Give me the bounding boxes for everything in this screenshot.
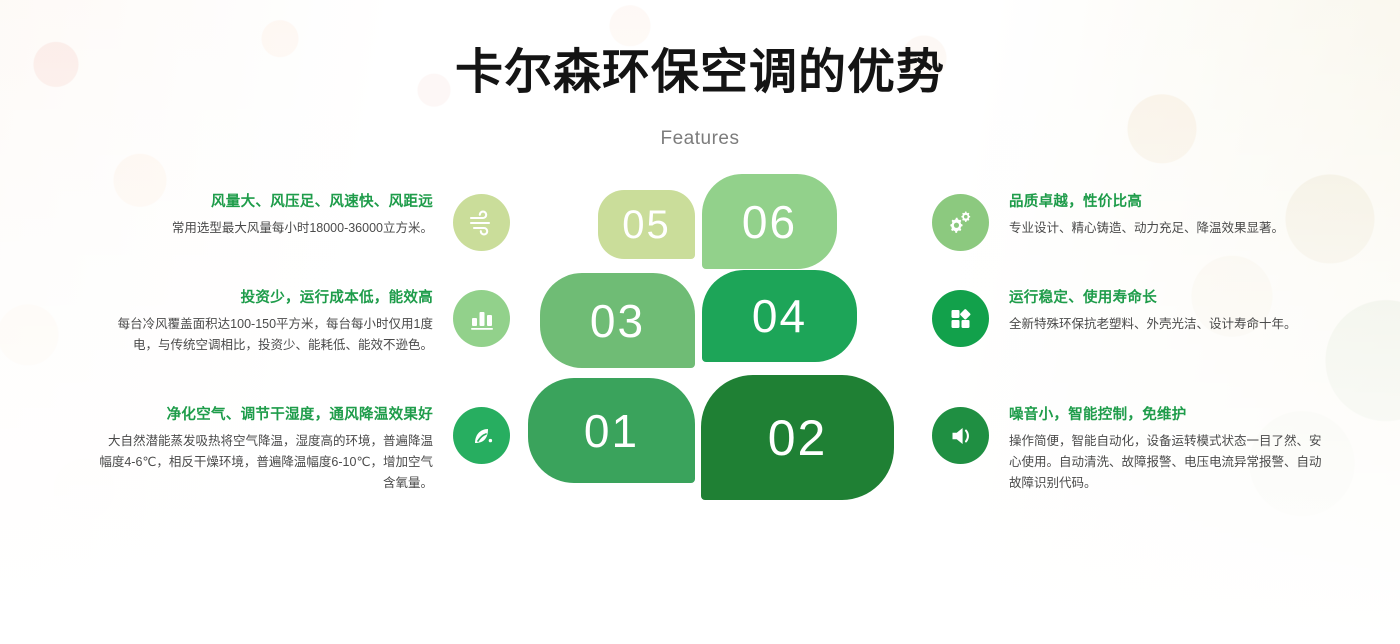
feature-heading-02: 噪音小，智能控制，免维护 bbox=[1009, 405, 1187, 425]
leaf-number-04: 04 bbox=[752, 293, 807, 339]
leaf-badge-04[interactable]: 04 bbox=[702, 270, 857, 362]
feature-text-01: 净化空气、调节干湿度，通风降温效果好 大自然潜能蒸发吸热将空气降温，湿度高的环境… bbox=[96, 405, 433, 494]
leaf-badge-01[interactable]: 01 bbox=[528, 378, 695, 483]
leaf-number-03: 03 bbox=[590, 298, 645, 344]
page-title: 卡尔森环保空调的优势 bbox=[0, 44, 1400, 102]
speaker-volume-icon bbox=[932, 407, 989, 464]
feature-heading-03: 投资少，运行成本低，能效高 bbox=[241, 288, 433, 308]
leaf-badge-02[interactable]: 02 bbox=[701, 375, 894, 500]
leaf-badge-03[interactable]: 03 bbox=[540, 273, 695, 368]
page-subtitle: Features bbox=[0, 128, 1400, 150]
leaf-number-02: 02 bbox=[768, 413, 828, 463]
feature-body-01: 大自然潜能蒸发吸热将空气降温，湿度高的环境，普遍降温幅度4-6℃，相反干燥环境，… bbox=[96, 431, 433, 494]
tree-stem bbox=[718, 190, 724, 530]
leaf-number-06: 06 bbox=[742, 199, 797, 245]
bar-chart-icon bbox=[453, 290, 510, 347]
feature-item-06[interactable]: 品质卓越，性价比高 专业设计、精心铸造、动力充足、降温效果显著。 bbox=[932, 192, 1332, 251]
feature-body-03: 每台冷风覆盖面积达100-150平方米，每台每小时仅用1度电，与传统空调相比，投… bbox=[99, 314, 433, 356]
feature-item-02[interactable]: 噪音小，智能控制，免维护 操作简便，智能自动化，设备运转模式状态一目了然、安心使… bbox=[932, 405, 1332, 494]
leaf-badge-05[interactable]: 05 bbox=[598, 190, 695, 259]
feature-text-05: 风量大、风压足、风速快、风距远 常用选型最大风量每小时18000-36000立方… bbox=[172, 192, 433, 239]
feature-heading-06: 品质卓越，性价比高 bbox=[1009, 192, 1142, 212]
feature-item-03[interactable]: 投资少，运行成本低，能效高 每台冷风覆盖面积达100-150平方米，每台每小时仅… bbox=[90, 288, 510, 356]
feature-body-02: 操作简便，智能自动化，设备运转模式状态一目了然、安心使用。自动清洗、故障报警、电… bbox=[1009, 431, 1332, 494]
feature-heading-05: 风量大、风压足、风速快、风距远 bbox=[211, 192, 433, 212]
feature-item-05[interactable]: 风量大、风压足、风速快、风距远 常用选型最大风量每小时18000-36000立方… bbox=[90, 192, 510, 251]
feature-text-03: 投资少，运行成本低，能效高 每台冷风覆盖面积达100-150平方米，每台每小时仅… bbox=[99, 288, 433, 356]
feature-item-04[interactable]: 运行稳定、使用寿命长 全新特殊环保抗老塑料、外壳光洁、设计寿命十年。 bbox=[932, 288, 1332, 347]
leaf-tree-diagram: 05 06 03 04 01 02 bbox=[520, 170, 920, 560]
feature-body-05: 常用选型最大风量每小时18000-36000立方米。 bbox=[172, 218, 433, 239]
leaf-number-05: 05 bbox=[622, 205, 671, 245]
gears-icon bbox=[932, 194, 989, 251]
feature-text-02: 噪音小，智能控制，免维护 操作简便，智能自动化，设备运转模式状态一目了然、安心使… bbox=[1009, 405, 1332, 494]
grid-blocks-icon bbox=[932, 290, 989, 347]
feature-item-01[interactable]: 净化空气、调节干湿度，通风降温效果好 大自然潜能蒸发吸热将空气降温，湿度高的环境… bbox=[90, 405, 510, 494]
feature-heading-04: 运行稳定、使用寿命长 bbox=[1009, 288, 1157, 308]
feature-body-04: 全新特殊环保抗老塑料、外壳光洁、设计寿命十年。 bbox=[1009, 314, 1297, 335]
leaf-number-01: 01 bbox=[584, 408, 639, 454]
infographic-slide: 卡尔森环保空调的优势 Features 风量大、风压足、风速快、风距远 常用选型… bbox=[0, 0, 1400, 644]
feature-heading-01: 净化空气、调节干湿度，通风降温效果好 bbox=[167, 405, 433, 425]
feature-text-06: 品质卓越，性价比高 专业设计、精心铸造、动力充足、降温效果显著。 bbox=[1009, 192, 1284, 239]
feature-text-04: 运行稳定、使用寿命长 全新特殊环保抗老塑料、外壳光洁、设计寿命十年。 bbox=[1009, 288, 1297, 335]
feature-body-06: 专业设计、精心铸造、动力充足、降温效果显著。 bbox=[1009, 218, 1284, 239]
eco-leaf-icon bbox=[453, 407, 510, 464]
wind-icon bbox=[453, 194, 510, 251]
